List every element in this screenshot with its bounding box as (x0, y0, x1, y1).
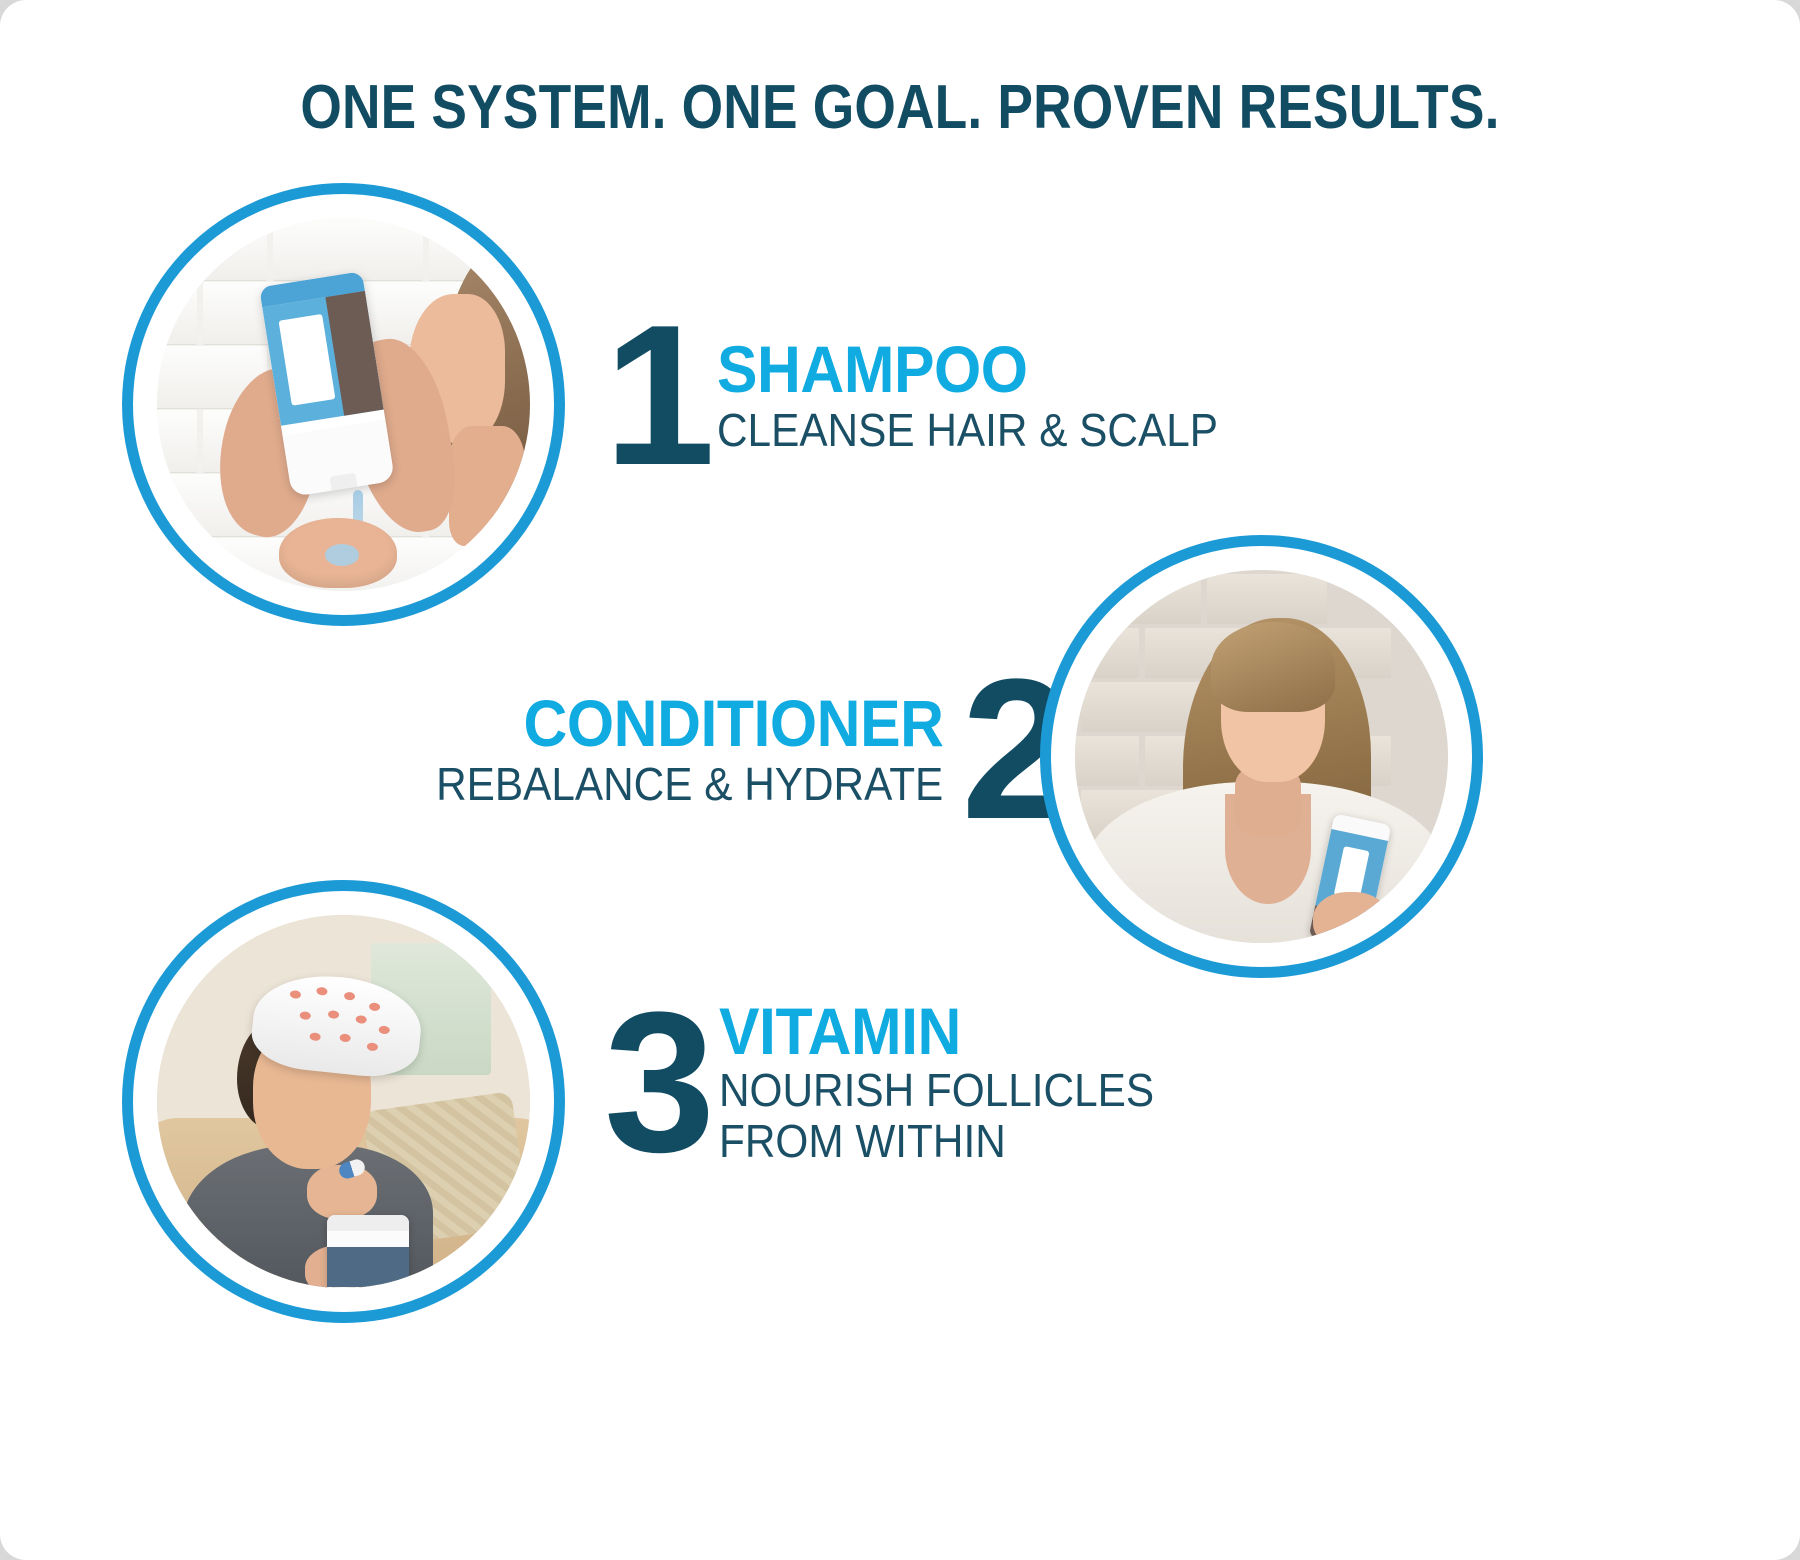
step-3-words: VITAMIN NOURISH FOLLICLES FROM WITHIN (719, 1000, 1192, 1165)
shower-shampoo-scene (157, 218, 530, 591)
jar-number-3: 3 (357, 1285, 379, 1288)
step-1-number: 1 (604, 318, 711, 474)
step-3-photo: 3 (157, 915, 530, 1288)
step-2-photo (1075, 570, 1448, 943)
shampoo-gel-blob (325, 544, 359, 566)
page-title: ONE SYSTEM. ONE GOAL. PROVEN RESULTS. (126, 72, 1674, 143)
laser-cap-vitamin-scene: 3 (157, 915, 530, 1288)
neck (449, 426, 525, 546)
step-3-number: 3 (604, 1005, 711, 1161)
jar-lid (327, 1215, 409, 1231)
step-2-text-block: CONDITIONER REBALANCE & HYDRATE 2 (392, 672, 1069, 828)
step-1-words: SHAMPOO CLEANSE HAIR & SCALP (717, 338, 1262, 454)
step-2-description: REBALANCE & HYDRATE (436, 761, 943, 808)
step-1-name: SHAMPOO (717, 338, 1028, 401)
step-2-words: CONDITIONER REBALANCE & HYDRATE (392, 692, 943, 808)
holding-hand (1313, 892, 1389, 943)
step-3-text-block: 3 VITAMIN NOURISH FOLLICLES FROM WITHIN (604, 1000, 1192, 1165)
step-1-description: CLEANSE HAIR & SCALP (717, 407, 1218, 454)
hair-crown (1211, 622, 1335, 712)
jar-label-band: 3 (327, 1247, 409, 1287)
step-1-photo (157, 218, 530, 591)
vitamin-jar: 3 (327, 1215, 409, 1288)
step-2-name: CONDITIONER (523, 692, 943, 755)
step-1-text-block: 1 SHAMPOO CLEANSE HAIR & SCALP (604, 318, 1262, 474)
step-3-name: VITAMIN (719, 1000, 961, 1063)
step-3-description-line-2: FROM WITHIN (719, 1118, 1006, 1165)
step-3-description-line-1: NOURISH FOLLICLES (719, 1067, 1154, 1114)
robe-conditioner-scene (1075, 570, 1448, 943)
infographic-card: ONE SYSTEM. ONE GOAL. PROVEN RESULTS. (0, 0, 1800, 1560)
